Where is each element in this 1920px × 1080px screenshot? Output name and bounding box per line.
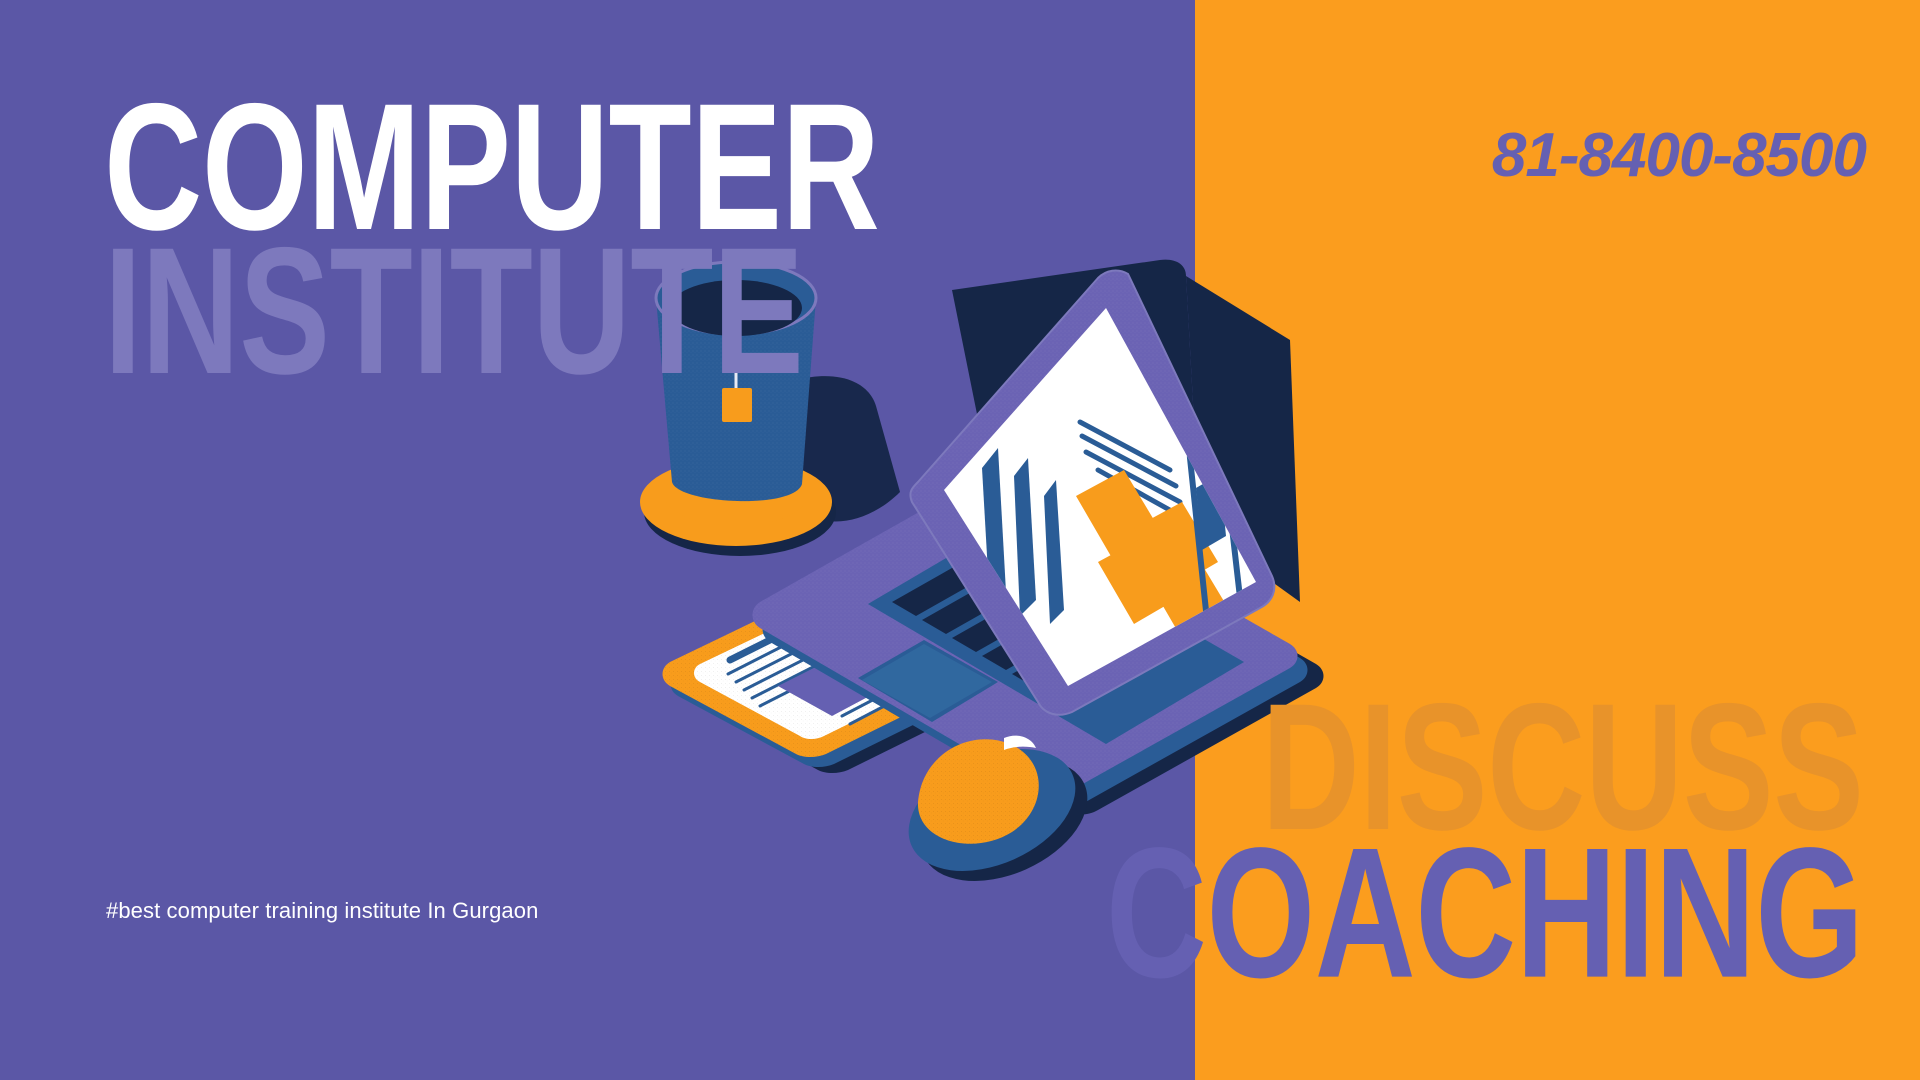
phone-number[interactable]: 81-8400-8500 xyxy=(1492,120,1866,191)
page-subtitle-institute: INSTITUTE xyxy=(104,240,879,384)
headline-coaching: COACHING xyxy=(1106,840,1864,988)
left-headline-block: COMPUTER INSTITUTE xyxy=(104,96,947,359)
right-headline-block: DISCUSS COACHING xyxy=(1040,696,1864,962)
banner-canvas: COMPUTER INSTITUTE #best computer traini… xyxy=(0,0,1920,1080)
tagline-text: #best computer training institute In Gur… xyxy=(106,898,538,924)
